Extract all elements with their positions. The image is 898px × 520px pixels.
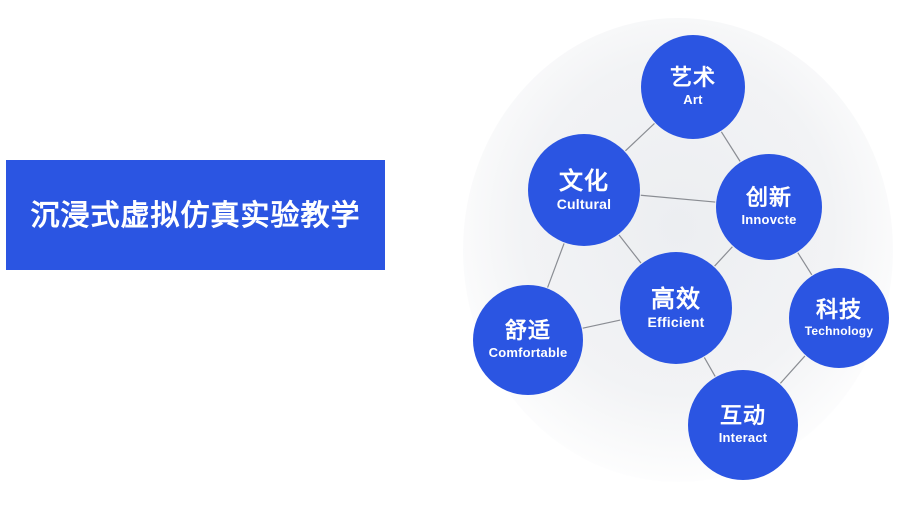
link-innovation-technology <box>798 253 812 275</box>
link-cultural-innovation <box>641 195 715 202</box>
bubble-label-cn-efficient: 高效 <box>651 287 701 312</box>
bubble-label-cn-art: 艺术 <box>670 67 716 90</box>
bubble-cultural[interactable]: 文化Cultural <box>528 134 640 246</box>
bubble-label-cn-interact: 互动 <box>720 405 766 428</box>
page-title: 沉浸式虚拟仿真实验教学 <box>30 198 360 233</box>
bubble-label-en-art: Art <box>683 93 702 107</box>
link-technology-interact <box>780 356 805 383</box>
link-art-cultural <box>625 123 654 150</box>
bubble-art[interactable]: 艺术Art <box>641 35 745 139</box>
bubble-efficient[interactable]: 高效Efficient <box>620 252 732 364</box>
bubble-technology[interactable]: 科技Technology <box>789 268 889 368</box>
link-efficient-interact <box>704 357 715 376</box>
bubble-label-en-innovation: Innovcte <box>741 213 796 227</box>
bubble-label-cn-innovation: 创新 <box>746 187 792 210</box>
slide-canvas: 沉浸式虚拟仿真实验教学 艺术Art文化Cultural创新Innovcte高效E… <box>0 0 898 520</box>
bubble-label-cn-technology: 科技 <box>816 299 862 322</box>
bubble-label-cn-cultural: 文化 <box>559 169 609 194</box>
bubble-label-en-interact: Interact <box>719 431 768 445</box>
bubble-label-en-cultural: Cultural <box>557 197 612 212</box>
bubble-label-cn-comfortable: 舒适 <box>505 320 551 343</box>
node-network-diagram: 艺术Art文化Cultural创新Innovcte高效Efficient科技Te… <box>440 0 898 520</box>
bubble-interact[interactable]: 互动Interact <box>688 370 798 480</box>
bubble-label-en-efficient: Efficient <box>647 315 704 330</box>
link-innovation-efficient <box>715 247 733 266</box>
title-banner: 沉浸式虚拟仿真实验教学 <box>6 160 385 270</box>
bubble-comfortable[interactable]: 舒适Comfortable <box>473 285 583 395</box>
link-cultural-comfortable <box>548 243 564 287</box>
bubble-innovation[interactable]: 创新Innovcte <box>716 154 822 260</box>
link-cultural-efficient <box>619 235 641 263</box>
link-art-innovation <box>721 132 740 162</box>
bubble-label-en-comfortable: Comfortable <box>489 346 568 360</box>
link-efficient-comfortable <box>583 320 621 328</box>
bubble-label-en-technology: Technology <box>805 325 873 338</box>
